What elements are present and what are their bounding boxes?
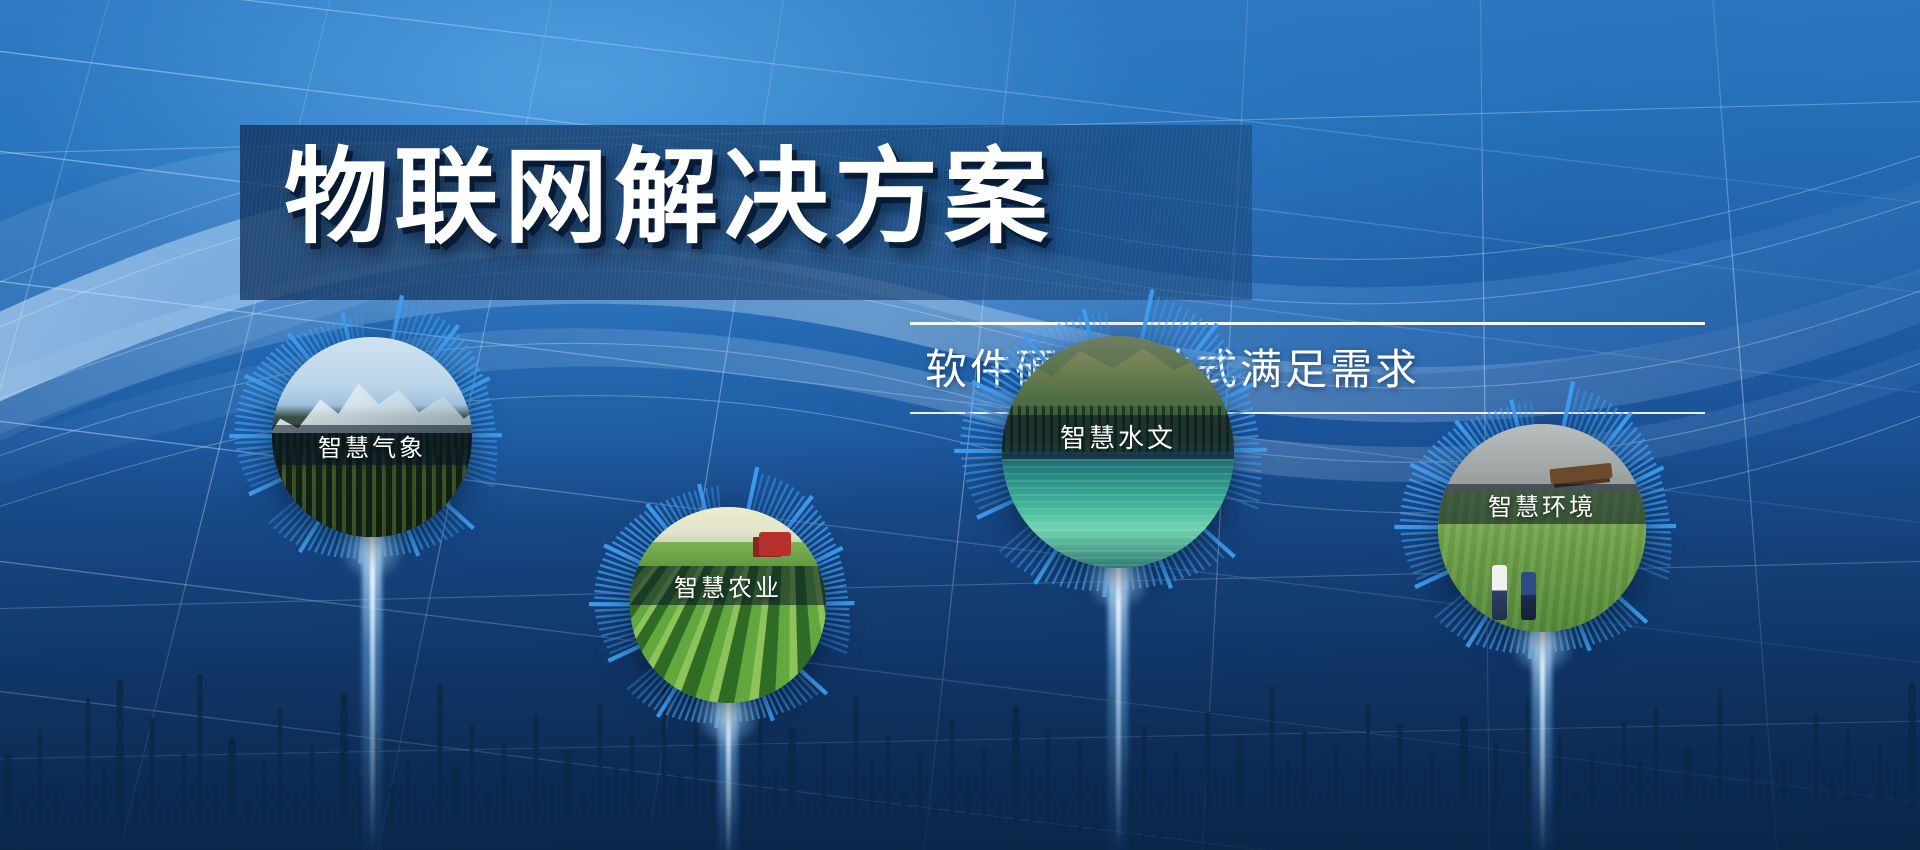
solution-node[interactable]: 智慧气象 <box>222 287 522 587</box>
node-thumbnail[interactable]: 智慧水文 <box>1002 336 1234 568</box>
node-label-band: 智慧农业 <box>630 566 826 605</box>
node-label: 智慧环境 <box>1488 487 1596 522</box>
node-thumbnail[interactable]: 智慧农业 <box>630 507 826 703</box>
node-label: 智慧农业 <box>674 568 782 603</box>
node-thumbnail[interactable]: 智慧气象 <box>272 337 472 537</box>
node-photo-park-people-photo <box>1438 424 1646 632</box>
solution-node[interactable]: 智慧水文 <box>946 280 1290 624</box>
node-label: 智慧气象 <box>318 428 426 463</box>
node-beam-core-icon <box>726 689 731 850</box>
page-title: 物联网解决方案 <box>284 132 1054 262</box>
node-photo-farm-field-photo <box>630 507 826 703</box>
node-beam-core-icon <box>370 523 375 848</box>
node-label: 智慧水文 <box>1060 418 1176 455</box>
node-label-band: 智慧水文 <box>1002 415 1234 459</box>
node-label-band: 智慧环境 <box>1438 484 1646 524</box>
iot-solution-banner: 物联网解决方案 软件硬件一站式满足需求 智慧气象智慧农业智慧水文智慧环境 <box>0 0 1920 850</box>
node-beam-core-icon <box>1116 554 1121 850</box>
node-thumbnail[interactable]: 智慧环境 <box>1438 424 1646 632</box>
solution-node[interactable]: 智慧农业 <box>582 459 874 751</box>
solution-node[interactable]: 智慧环境 <box>1387 373 1697 683</box>
node-beam-core-icon <box>1540 618 1545 850</box>
node-label-band: 智慧气象 <box>272 425 472 465</box>
